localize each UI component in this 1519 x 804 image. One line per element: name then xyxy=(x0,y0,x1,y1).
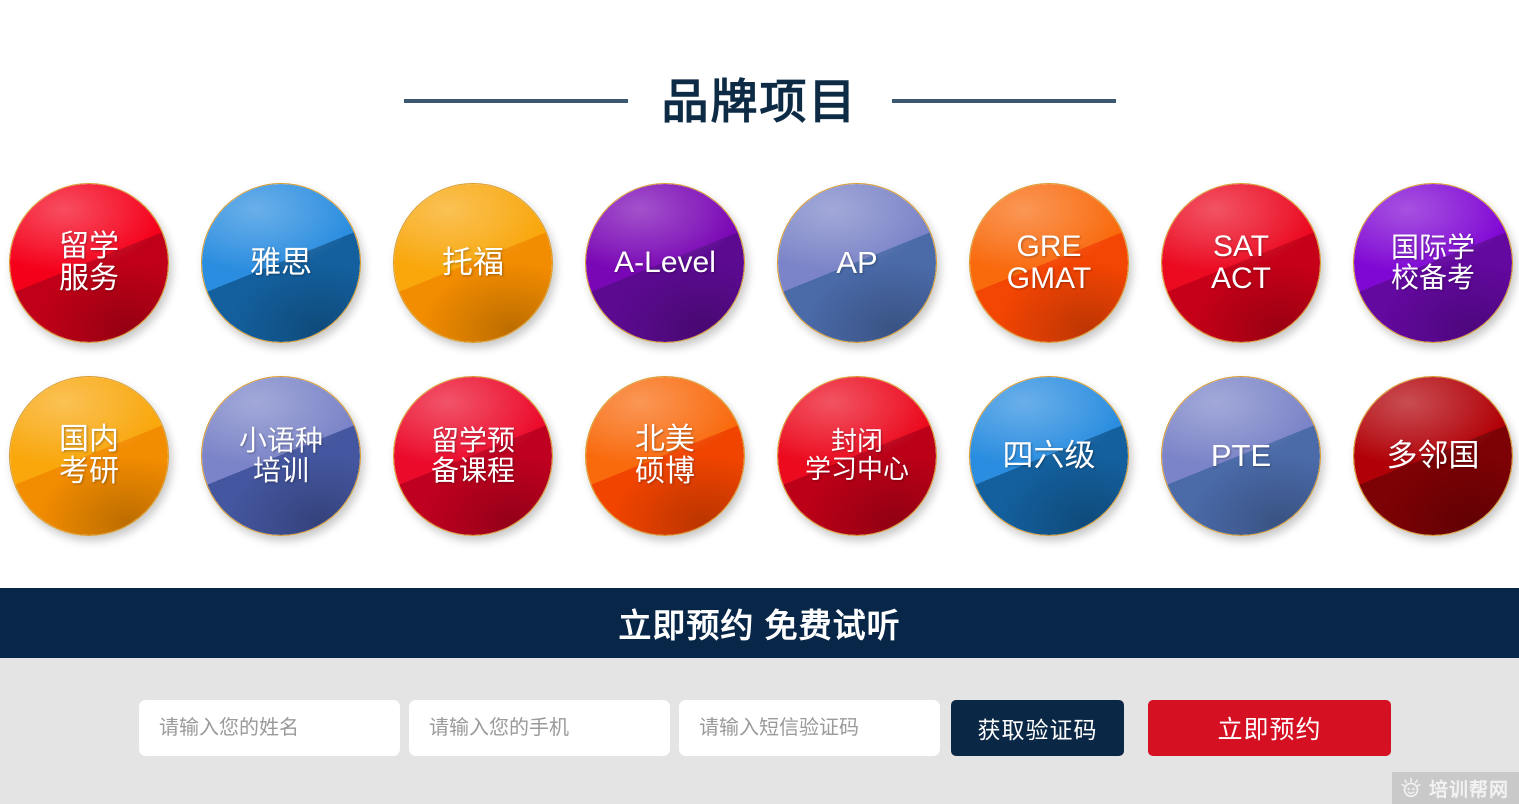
program-circle[interactable]: 托福 xyxy=(393,183,553,343)
program-circle[interactable]: 国际学 校备考 xyxy=(1353,183,1513,343)
program-circle[interactable]: 留学 服务 xyxy=(9,183,169,343)
booking-form-strip: 获取验证码 立即预约 xyxy=(0,658,1519,804)
submit-booking-button[interactable]: 立即预约 xyxy=(1148,700,1391,756)
program-circle-label: 国内 考研 xyxy=(53,424,125,488)
program-circle[interactable]: 多邻国 xyxy=(1353,376,1513,536)
page-title-row: 品牌项目 xyxy=(0,62,1519,140)
program-circle-label: A-Level xyxy=(608,247,722,279)
page-title: 品牌项目 xyxy=(662,78,858,125)
program-circle-label: SAT ACT xyxy=(1205,231,1277,295)
watermark: 培训帮网 xyxy=(1392,772,1519,804)
watermark-label: 培训帮网 xyxy=(1429,775,1509,802)
program-circle[interactable]: 北美 硕博 xyxy=(585,376,745,536)
program-circle-label: 托福 xyxy=(436,247,510,280)
program-circle[interactable]: 封闭 学习中心 xyxy=(777,376,937,536)
program-circle-label: 留学预 备课程 xyxy=(425,426,521,485)
program-row-2: 国内 考研小语种 培训留学预 备课程北美 硕博封闭 学习中心四六级PTE多邻国 xyxy=(9,376,1513,538)
sms-code-input[interactable] xyxy=(679,700,940,756)
program-circle[interactable]: GRE GMAT xyxy=(969,183,1129,343)
cta-banner-text: 立即预约 免费试听 xyxy=(618,599,900,647)
program-circle-label: 留学 服务 xyxy=(53,231,125,295)
program-circle-label: GRE GMAT xyxy=(1001,231,1097,295)
program-row-1: 留学 服务雅思托福A-LevelAPGRE GMATSAT ACT国际学 校备考 xyxy=(9,183,1513,345)
program-circle[interactable]: AP xyxy=(777,183,937,343)
program-circle[interactable]: A-Level xyxy=(585,183,745,343)
program-circle-label: 北美 硕博 xyxy=(629,424,701,488)
name-input[interactable] xyxy=(139,700,400,756)
program-circle[interactable]: 小语种 培训 xyxy=(201,376,361,536)
program-circle-label: 多邻国 xyxy=(1381,440,1486,473)
title-rule-right xyxy=(892,99,1116,103)
cta-banner: 立即预约 免费试听 xyxy=(0,588,1519,658)
program-circle[interactable]: PTE xyxy=(1161,376,1321,536)
sun-face-icon xyxy=(1400,777,1422,799)
program-circle[interactable]: 四六级 xyxy=(969,376,1129,536)
program-circle[interactable]: 雅思 xyxy=(201,183,361,343)
program-circle[interactable]: SAT ACT xyxy=(1161,183,1321,343)
program-circle-label: 国际学 校备考 xyxy=(1385,233,1481,292)
program-circle-label: 封闭 学习中心 xyxy=(799,428,915,483)
program-circle-label: PTE xyxy=(1205,440,1277,473)
program-grid: 留学 服务雅思托福A-LevelAPGRE GMATSAT ACT国际学 校备考… xyxy=(9,183,1513,538)
program-circle-label: 四六级 xyxy=(997,440,1102,473)
program-circle[interactable]: 留学预 备课程 xyxy=(393,376,553,536)
program-circle-label: 小语种 培训 xyxy=(233,426,329,485)
title-rule-left xyxy=(404,99,628,103)
program-circle[interactable]: 国内 考研 xyxy=(9,376,169,536)
phone-input[interactable] xyxy=(409,700,670,756)
booking-form: 获取验证码 立即预约 xyxy=(139,700,1391,756)
get-sms-code-button[interactable]: 获取验证码 xyxy=(951,700,1124,756)
program-circle-label: AP xyxy=(830,247,883,280)
program-circle-label: 雅思 xyxy=(244,247,318,280)
